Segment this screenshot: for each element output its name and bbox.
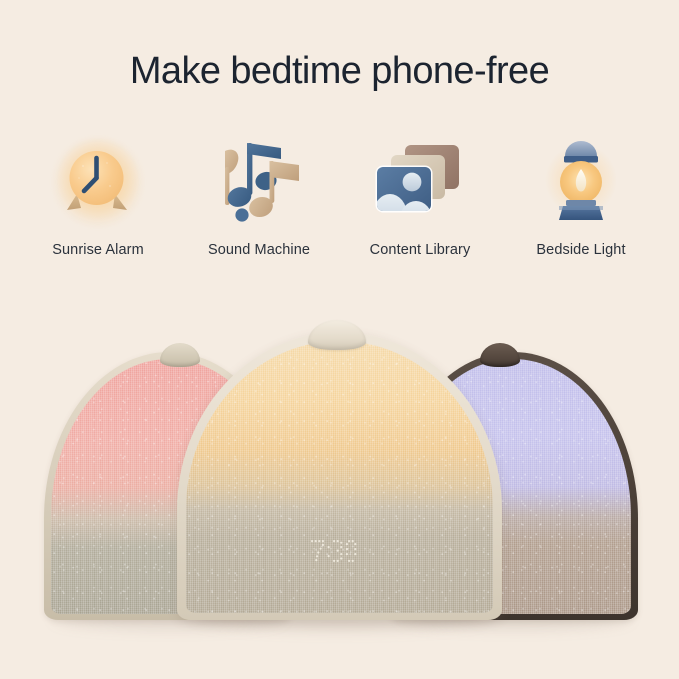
product-sunrise-alarm-clock-cream[interactable]	[177, 332, 502, 620]
page-title: Make bedtime phone-free	[0, 48, 679, 96]
led-digits	[311, 540, 363, 566]
stacked-photo-cards-icon	[372, 136, 468, 226]
note-dot-blue	[235, 208, 248, 221]
top-button-center[interactable]	[308, 320, 366, 350]
feature-item-content-library[interactable]: Content Library	[344, 136, 496, 258]
lantern-icon	[533, 136, 629, 226]
device-face-center	[186, 341, 493, 613]
music-notes-icon	[211, 136, 307, 226]
sunrise-alarm-clock-icon	[50, 136, 146, 226]
product-hero-canvas: Make bedtime phone-free	[0, 0, 679, 679]
feature-label-sound-machine: Sound Machine	[208, 242, 310, 258]
lantern-dome	[565, 141, 597, 157]
led-clock-display	[311, 540, 363, 566]
feature-item-sound-machine[interactable]: Sound Machine	[183, 136, 335, 258]
feature-list: Sunrise Alarm	[0, 136, 679, 258]
feature-label-content-library: Content Library	[370, 242, 471, 258]
feature-label-bedside-light: Bedside Light	[536, 242, 625, 258]
product-image-group	[0, 290, 679, 620]
feature-item-bedside-light[interactable]: Bedside Light	[505, 136, 657, 258]
note-tan-right	[247, 161, 299, 220]
feature-label-sunrise-alarm: Sunrise Alarm	[52, 242, 144, 258]
feature-item-sunrise-alarm[interactable]: Sunrise Alarm	[22, 136, 174, 258]
card-front	[373, 166, 433, 224]
